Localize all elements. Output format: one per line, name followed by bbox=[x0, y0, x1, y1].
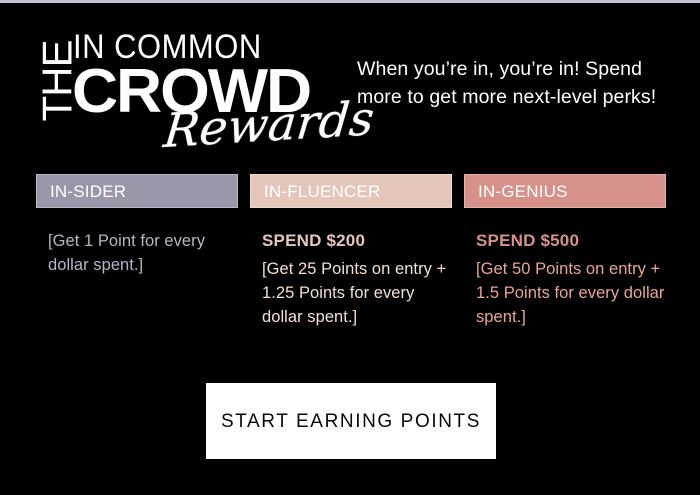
headline-line-1: When you’re in, you’re in! Spend bbox=[357, 56, 677, 84]
tier-influencer-spend: SPEND $200 bbox=[262, 230, 452, 251]
tier-influencer-name: IN-FLUENCER bbox=[264, 183, 381, 200]
logo-word-rewards: Rewards bbox=[162, 95, 376, 155]
tier-insider-body: [Get 1 Point for every dollar spent.] bbox=[36, 208, 238, 278]
tier-ingenius-name: IN-GENIUS bbox=[478, 183, 568, 200]
tier-insider-name: IN-SIDER bbox=[50, 183, 126, 200]
tier-ingenius-description: [Get 50 Points on entry + 1.5 Points for… bbox=[476, 258, 666, 330]
reward-tiers: IN-SIDER [Get 1 Point for every dollar s… bbox=[36, 174, 666, 354]
tier-insider-bar: IN-SIDER bbox=[36, 174, 238, 208]
tier-insider-description: [Get 1 Point for every dollar spent.] bbox=[48, 230, 238, 278]
tier-insider: IN-SIDER [Get 1 Point for every dollar s… bbox=[36, 174, 238, 354]
headline-line-2: more to get more next-level perks! bbox=[357, 84, 677, 112]
tier-ingenius: IN-GENIUS SPEND $500 [Get 50 Points on e… bbox=[464, 174, 666, 354]
start-earning-points-label: START EARNING POINTS bbox=[221, 412, 481, 431]
tier-ingenius-spend: SPEND $500 bbox=[476, 230, 666, 251]
brand-logo: THE IN COMMON CROWD Rewards bbox=[34, 18, 364, 153]
start-earning-points-button[interactable]: START EARNING POINTS bbox=[206, 383, 496, 459]
tier-influencer-bar: IN-FLUENCER bbox=[250, 174, 452, 208]
tier-influencer: IN-FLUENCER SPEND $200 [Get 25 Points on… bbox=[250, 174, 452, 354]
tier-ingenius-bar: IN-GENIUS bbox=[464, 174, 666, 208]
tier-influencer-description: [Get 25 Points on entry + 1.25 Points fo… bbox=[262, 258, 452, 330]
promo-headline: When you’re in, you’re in! Spend more to… bbox=[357, 56, 677, 111]
tier-ingenius-body: SPEND $500 [Get 50 Points on entry + 1.5… bbox=[464, 208, 666, 330]
tier-influencer-body: SPEND $200 [Get 25 Points on entry + 1.2… bbox=[250, 208, 452, 330]
top-accent-strip bbox=[0, 0, 700, 3]
